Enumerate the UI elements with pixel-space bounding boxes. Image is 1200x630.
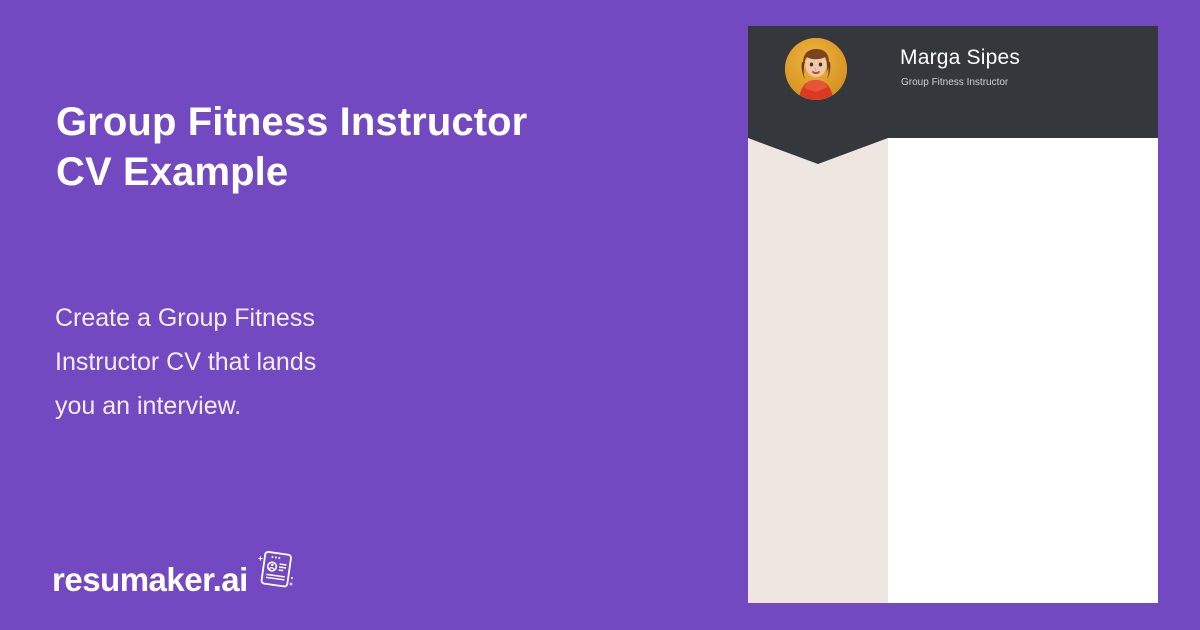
page-subtitle-line3: you an interview. xyxy=(55,384,395,428)
page-title: Group Fitness Instructor CV Example xyxy=(56,97,696,197)
cv-preview-card[interactable]: Marga Sipes Group Fitness Instructor Con… xyxy=(748,26,1158,603)
page-title-line2: CV Example xyxy=(56,147,696,197)
logo-wordmark: resumaker.ai xyxy=(52,562,248,598)
cv-header: Marga Sipes Group Fitness Instructor xyxy=(748,26,1158,138)
cv-candidate-role: Group Fitness Instructor xyxy=(901,76,1008,90)
resume-document-icon xyxy=(251,548,295,597)
resumaker-logo[interactable]: resumaker.ai xyxy=(52,548,295,598)
page-subtitle: Create a Group Fitness Instructor CV tha… xyxy=(55,296,395,428)
page-title-line1: Group Fitness Instructor xyxy=(56,97,696,147)
promo-panel: Group Fitness Instructor CV Example Crea… xyxy=(0,0,740,630)
promo-banner: Group Fitness Instructor CV Example Crea… xyxy=(0,0,1200,630)
page-subtitle-line2: Instructor CV that lands xyxy=(55,340,395,384)
cv-candidate-name: Marga Sipes xyxy=(900,45,1020,71)
cv-main-background xyxy=(888,138,1158,603)
page-subtitle-line1: Create a Group Fitness xyxy=(55,296,395,340)
avatar xyxy=(785,38,847,100)
cv-sidebar-background xyxy=(748,138,888,603)
